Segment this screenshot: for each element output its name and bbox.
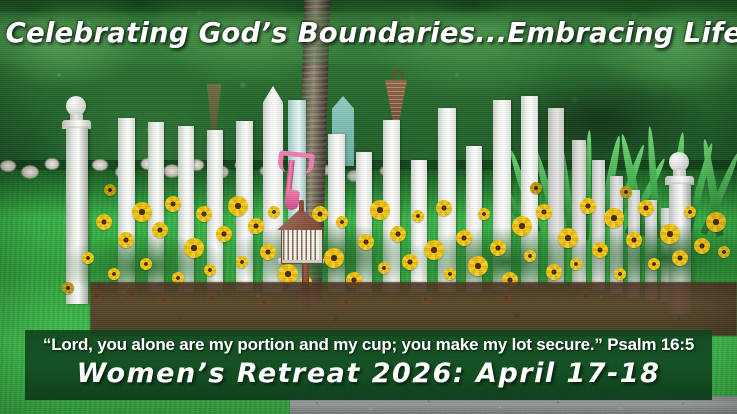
retreat-poster: Celebrating God’s Boundaries...Embracing… <box>0 0 737 414</box>
birdhouse-finial <box>299 200 304 212</box>
shovel-grip <box>277 150 315 175</box>
birdhouse-bars <box>283 230 319 260</box>
mulch-texture <box>90 282 737 336</box>
scripture-verse: “Lord, you alone are my portion and my c… <box>25 335 712 355</box>
event-title: Women’s Retreat 2026: April 17-18 <box>25 358 712 389</box>
post-ball-right <box>669 152 689 172</box>
page-title: Celebrating God’s Boundaries...Embracing… <box>6 16 732 49</box>
post-ball-left <box>66 96 86 116</box>
